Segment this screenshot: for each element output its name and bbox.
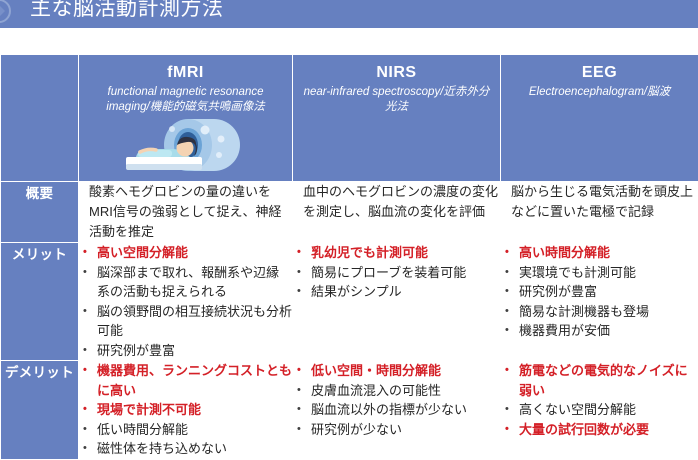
header-cell-fmri: fMRI functional magnetic resonance imagi… xyxy=(79,55,293,182)
table-header-row: fMRI functional magnetic resonance imagi… xyxy=(1,55,698,182)
column-subtitle-fmri: functional magnetic resonance imaging/機能… xyxy=(79,84,292,115)
cell-merit-nirs: 乳幼児でも計測可能簡易にプローブを装着可能結果がシンプル xyxy=(293,243,501,361)
cell-text: 脳から生じる電気活動を頭皮上などに置いた電極で記録 xyxy=(511,182,698,222)
table-row-summary: 概要 酸素ヘモグロビンの量の違いをMRI信号の強弱として捉え、神経活動を推定 血… xyxy=(1,182,698,243)
bullet-item: 筋電などの電気的なノイズに弱い xyxy=(501,361,698,400)
column-title-eeg: EEG xyxy=(501,55,698,84)
bullet-item: 研究例が少ない xyxy=(293,420,500,440)
bullet-item: 低い空間・時間分解能 xyxy=(293,361,500,381)
row-label-merit: メリット xyxy=(1,243,79,361)
cell-merit-fmri: 高い空間分解能脳深部まで取れ、報酬系や辺縁系の活動も捉えられる脳の領野間の相互接… xyxy=(79,243,293,361)
bullet-list: 低い空間・時間分解能皮膚血流混入の可能性脳血流以外の指標が少ない研究例が少ない xyxy=(293,361,500,439)
cell-summary-nirs: 血中のヘモグロビンの濃度の変化を測定し、脳血流の変化を評価 xyxy=(293,182,501,243)
bullet-item: 脳血流以外の指標が少ない xyxy=(293,400,500,420)
row-label-demerit: デメリット xyxy=(1,361,79,460)
cell-demerit-fmri: 機器費用、ランニングコストともに高い現場で計測不可能低い時間分解能磁性体を持ち込… xyxy=(79,361,293,460)
column-subtitle-nirs: near-infrared spectroscopy/近赤外分光法 xyxy=(293,84,500,115)
bullet-list: 筋電などの電気的なノイズに弱い高くない空間分解能大量の試行回数が必要 xyxy=(501,361,698,439)
cell-merit-eeg: 高い時間分解能実環境でも計測可能研究例が豊富簡易な計測機器も登場機器費用が安価 xyxy=(501,243,698,361)
bullet-item: 簡易にプローブを装着可能 xyxy=(293,263,500,283)
table-row-merit: メリット 高い空間分解能脳深部まで取れ、報酬系や辺縁系の活動も捉えられる脳の領野… xyxy=(1,243,698,361)
bullet-item: 脳の領野間の相互接続状況も分析可能 xyxy=(79,302,292,341)
bullet-item: 脳深部まで取れ、報酬系や辺縁系の活動も捉えられる xyxy=(79,263,292,302)
header-cell-eeg: EEG Electroencephalogram/脳波 xyxy=(501,55,698,182)
fmri-illustration-wrap xyxy=(79,115,292,179)
cell-demerit-eeg: 筋電などの電気的なノイズに弱い高くない空間分解能大量の試行回数が必要 xyxy=(501,361,698,460)
bullet-item: 簡易な計測機器も登場 xyxy=(501,302,698,322)
bullet-item: 研究例が豊富 xyxy=(501,282,698,302)
bullet-item: 高い空間分解能 xyxy=(79,243,292,263)
bullet-list: 高い時間分解能実環境でも計測可能研究例が豊富簡易な計測機器も登場機器費用が安価 xyxy=(501,243,698,341)
slide-title-banner: 主な脳活動計測方法 xyxy=(0,0,698,28)
column-title-fmri: fMRI xyxy=(79,55,292,84)
slide-root: 主な脳活動計測方法 fMRI functional magnetic reson… xyxy=(0,0,698,455)
header-cell-nirs: NIRS near-infrared spectroscopy/近赤外分光法 xyxy=(293,55,501,182)
bullet-list: 機器費用、ランニングコストともに高い現場で計測不可能低い時間分解能磁性体を持ち込… xyxy=(79,361,292,459)
bullet-item: 磁性体を持ち込めない xyxy=(79,439,292,459)
comparison-table: fMRI functional magnetic resonance imagi… xyxy=(0,54,698,460)
cell-demerit-nirs: 低い空間・時間分解能皮膚血流混入の可能性脳血流以外の指標が少ない研究例が少ない xyxy=(293,361,501,460)
bullet-item: 実環境でも計測可能 xyxy=(501,263,698,283)
bullet-list: 乳幼児でも計測可能簡易にプローブを装着可能結果がシンプル xyxy=(293,243,500,302)
bullet-item: 低い時間分解能 xyxy=(79,420,292,440)
bullet-item: 機器費用が安価 xyxy=(501,321,698,341)
header-corner-cell xyxy=(1,55,79,182)
bullet-item: 皮膚血流混入の可能性 xyxy=(293,381,500,401)
bullet-item: 高い時間分解能 xyxy=(501,243,698,263)
bullet-item: 高くない空間分解能 xyxy=(501,400,698,420)
cell-summary-fmri: 酸素ヘモグロビンの量の違いをMRI信号の強弱として捉え、神経活動を推定 xyxy=(79,182,293,243)
bullet-item: 機器費用、ランニングコストともに高い xyxy=(79,361,292,400)
table-row-demerit: デメリット 機器費用、ランニングコストともに高い現場で計測不可能低い時間分解能磁… xyxy=(1,361,698,460)
cell-text: 血中のヘモグロビンの濃度の変化を測定し、脳血流の変化を評価 xyxy=(303,182,500,222)
bullet-list: 高い空間分解能脳深部まで取れ、報酬系や辺縁系の活動も捉えられる脳の領野間の相互接… xyxy=(79,243,292,360)
cell-summary-eeg: 脳から生じる電気活動を頭皮上などに置いた電極で記録 xyxy=(501,182,698,243)
row-label-summary: 概要 xyxy=(1,182,79,243)
bullet-item: 結果がシンプル xyxy=(293,282,500,302)
circle-badge-icon xyxy=(0,0,12,24)
bullet-item: 大量の試行回数が必要 xyxy=(501,420,698,440)
bullet-item: 研究例が豊富 xyxy=(79,341,292,361)
mri-scanner-icon xyxy=(122,117,250,179)
column-subtitle-eeg: Electroencephalogram/脳波 xyxy=(501,84,698,100)
column-title-nirs: NIRS xyxy=(293,55,500,84)
bullet-item: 現場で計測不可能 xyxy=(79,400,292,420)
page-title: 主な脳活動計測方法 xyxy=(30,0,224,24)
bullet-item: 乳幼児でも計測可能 xyxy=(293,243,500,263)
cell-text: 酸素ヘモグロビンの量の違いをMRI信号の強弱として捉え、神経活動を推定 xyxy=(89,182,292,242)
